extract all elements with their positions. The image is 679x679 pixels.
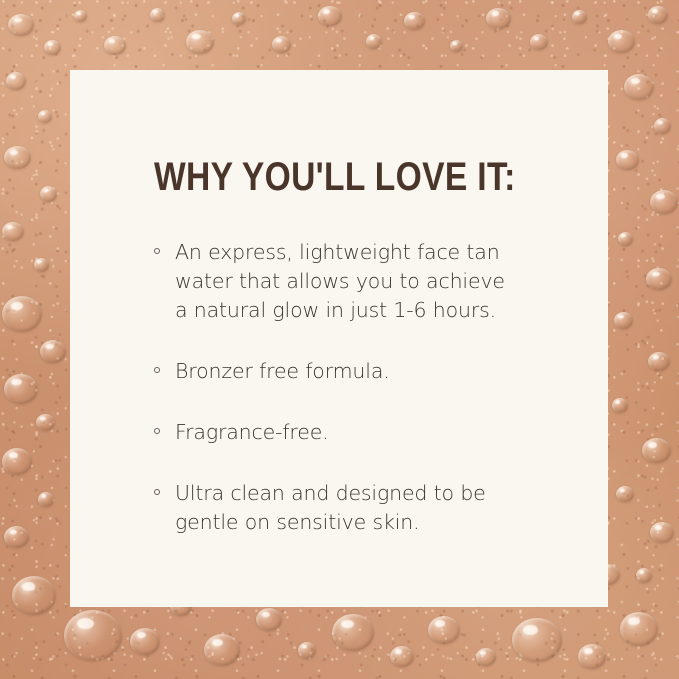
water-droplet [38,492,54,507]
water-droplet [648,6,668,24]
bullet-circle-icon [154,367,160,373]
water-droplet [38,110,52,123]
list-item: Bronzer free formula. [154,357,552,386]
water-droplet [650,190,678,214]
water-droplet [44,40,61,55]
water-droplet [104,36,126,55]
water-droplet [12,576,56,615]
water-droplet [64,610,122,661]
water-droplet [2,448,32,475]
water-droplet [512,618,562,662]
list-item-text: Ultra clean and designed to be gentle on… [175,479,552,537]
water-droplet [428,616,460,644]
benefits-list: An express, lightweight face tan water t… [154,238,552,537]
water-droplet [612,398,628,413]
water-droplet [530,34,548,50]
water-droplet [608,30,635,53]
list-item: Fragrance-free. [154,418,552,447]
water-droplet [6,72,26,90]
water-droplet [578,644,606,669]
product-benefits-graphic: WHY YOU'LL LOVE IT: An express, lightwei… [0,0,679,679]
water-droplet [2,296,42,332]
water-droplet [636,568,652,583]
water-droplet [4,374,38,404]
water-droplet [486,8,511,29]
water-droplet [298,642,316,659]
water-droplet [654,118,671,134]
water-droplet [646,268,672,290]
water-droplet [624,74,654,100]
bullet-circle-icon [154,248,160,254]
water-droplet [34,258,49,272]
water-droplet [642,438,671,463]
water-droplet [648,352,670,371]
list-item-text: Fragrance-free. [175,418,552,447]
water-droplet [404,12,425,30]
bullet-circle-icon [154,489,160,495]
water-droplet [366,34,382,49]
benefits-card: WHY YOU'LL LOVE IT: An express, lightwei… [70,70,608,607]
water-droplet [614,312,633,329]
water-droplet [130,628,160,655]
water-droplet [4,526,29,548]
water-droplet [150,8,165,22]
water-droplet [40,186,57,202]
water-droplet [616,150,639,170]
water-droplet [186,30,214,54]
water-droplet [618,232,633,246]
water-droplet [390,646,414,667]
water-droplet [450,40,463,52]
water-droplet [40,340,66,363]
bullet-circle-icon [154,428,160,434]
water-droplet [318,6,342,26]
water-droplet [256,608,282,631]
water-droplet [272,36,291,53]
water-droplet [74,10,87,22]
water-droplet [204,634,240,666]
water-droplet [650,522,674,543]
list-item: An express, lightweight face tan water t… [154,238,552,325]
list-item-text: Bronzer free formula. [175,357,552,386]
water-droplet [232,12,246,25]
water-droplet [8,14,34,36]
water-droplet [616,486,634,502]
water-droplet [4,146,31,169]
water-droplet [332,614,374,651]
page-title: WHY YOU'LL LOVE IT: [154,156,488,198]
list-item: Ultra clean and designed to be gentle on… [154,479,552,537]
water-droplet [36,414,55,431]
water-droplet [2,222,24,241]
list-item-text: An express, lightweight face tan water t… [175,238,552,325]
water-droplet [620,612,658,646]
water-droplet [572,10,587,24]
water-droplet [476,648,496,666]
